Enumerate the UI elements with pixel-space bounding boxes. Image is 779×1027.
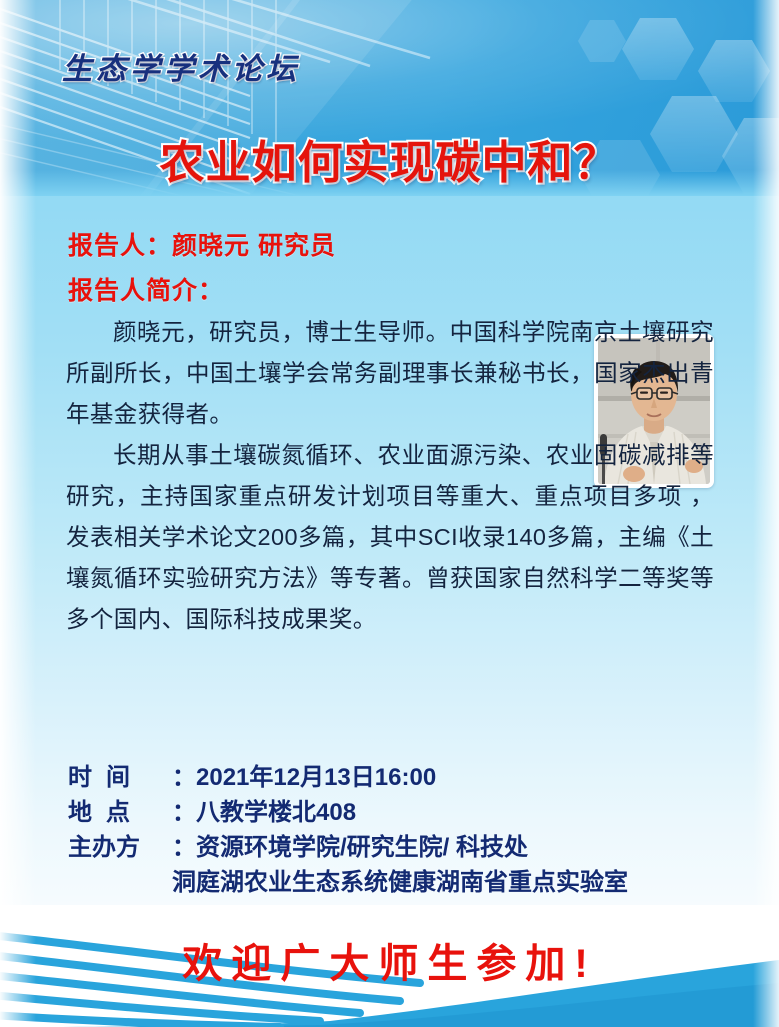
event-host-colon: ： [172,834,196,861]
event-time-row: 时间：2021年12月13日16:00 [68,760,628,795]
welcome-message: 欢迎广大师生参加! [0,931,779,989]
event-host-value-1: 资源环境学院/研究生院/ 科技处 [196,834,528,861]
event-host-row-2: 洞庭湖农业生态系统健康湖南省重点实验室 [68,865,628,900]
event-place-value: 八教学楼北408 [196,799,356,826]
event-host-label: 主办方 [68,830,172,865]
event-place-colon: ： [172,799,196,826]
event-time-value: 2021年12月13日16:00 [196,764,436,791]
forum-tag: 生态学学术论坛 [62,44,300,88]
event-place-label: 地点 [68,795,172,830]
bio-paragraph-2: 长期从事土壤碳氮循环、农业面源污染、农业固碳减排等研究，主持国家重点研发计划项目… [66,435,714,640]
bio-heading: 报告人简介： [68,271,224,307]
poster-root: 生态学学术论坛 农业如何实现碳中和？ 报告人：颜晓元 研究员 报告人简介： [0,0,779,1027]
page-title: 农业如何实现碳中和？ [0,126,779,191]
speaker-name-line: 报告人：颜晓元 研究员 [68,226,336,262]
event-time-colon: ： [172,764,196,791]
event-host-row: 主办方：资源环境学院/研究生院/ 科技处 [68,830,628,865]
event-info: 时间：2021年12月13日16:00 地点：八教学楼北408 主办方：资源环境… [68,760,628,900]
right-edge-fade [753,0,779,1027]
event-time-label: 时间 [68,760,172,795]
bio-paragraph-1: 颜晓元，研究员，博士生导师。中国科学院南京土壤研究所副所长，中国土壤学会常务副理… [66,312,714,435]
biography-text: 颜晓元，研究员，博士生导师。中国科学院南京土壤研究所副所长，中国土壤学会常务副理… [66,312,714,640]
event-host-value-2: 洞庭湖农业生态系统健康湖南省重点实验室 [68,865,628,900]
left-edge-fade [0,0,36,1027]
event-place-row: 地点：八教学楼北408 [68,795,628,830]
